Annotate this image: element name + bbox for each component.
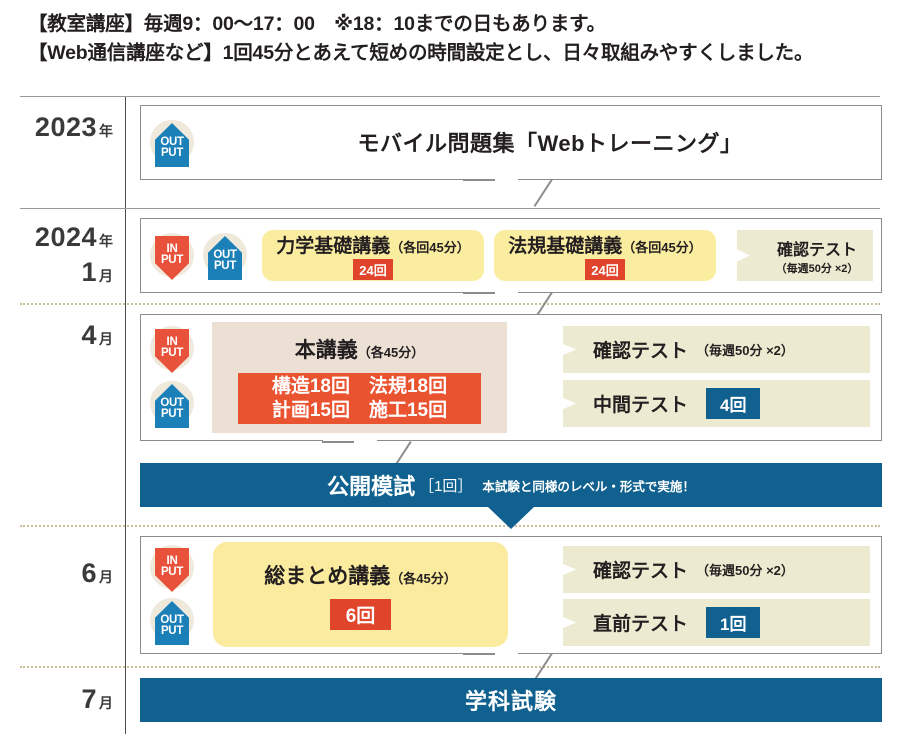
year-unit: 年 [99, 233, 113, 249]
exam-banner: 学科試験 [140, 678, 882, 722]
row-label-jun: 6月 [0, 558, 125, 589]
badge-line-2: PUT [214, 261, 236, 273]
year-unit: 年 [99, 123, 113, 139]
lecture-title: 法規基礎講義 [508, 236, 622, 257]
header-notes: 【教室講座】毎週9：00〜17：00 ※18：10までの日もあります。 【Web… [28, 10, 888, 68]
year-value: 2024 [35, 222, 97, 252]
lecture-summary: 総まとめ講義（各45分） 6回 [213, 542, 508, 647]
badge-line-2: PUT [161, 255, 183, 267]
lecture-note: （各回45分） [390, 240, 469, 255]
test-count-badge: 1回 [706, 607, 760, 638]
row-label-apr: 4月 [0, 320, 125, 351]
test-title: 中間テスト [593, 390, 688, 417]
lecture-count-badge: 24回 [585, 259, 624, 280]
month-unit: 月 [99, 331, 113, 347]
breakdown-line-2: 計画15回 施工15回 [272, 399, 447, 423]
row-label-jul: 7月 [0, 684, 125, 715]
badge-output-2023: OUT PUT [150, 120, 194, 164]
test-title: 直前テスト [593, 609, 688, 636]
lecture-title: 本講義 [295, 339, 358, 362]
lecture-title: 力学基礎講義 [276, 236, 390, 257]
test-count-badge: 4回 [706, 388, 760, 419]
mock-exam-note: 本試験と同様のレベル・形式で実施！ [482, 476, 695, 495]
header-line-1: 【教室講座】毎週9：00〜17：00 ※18：10までの日もあります。 [28, 10, 888, 39]
month-value: 6 [81, 558, 97, 588]
test-confirm-jan: 確認テスト （毎週50分 ×2） [737, 230, 873, 281]
test-title: 確認テスト [777, 236, 857, 260]
badge-output-jan: OUT PUT [203, 233, 247, 277]
separator-top [20, 96, 880, 97]
course-timeline-infographic: 【教室講座】毎週9：00〜17：00 ※18：10までの日もあります。 【Web… [0, 0, 900, 743]
badge-input-jan: IN PUT [150, 233, 194, 277]
test-confirm-jun: 確認テスト （毎週50分 ×2） [563, 546, 870, 593]
header-line-2: 【Web通信講座など】1回45分とあえて短めの時間設定とし、日々取組みやすくしま… [28, 39, 888, 68]
lecture-count-badge: 6回 [330, 599, 392, 630]
separator-apr-jun [20, 525, 880, 527]
separator-2023-2024 [20, 208, 880, 209]
test-final-prep-jun: 直前テスト 1回 [563, 599, 870, 646]
flow-notch-2023 [463, 179, 519, 207]
test-confirm-apr: 確認テスト （毎週50分 ×2） [563, 326, 870, 373]
row-label-2024-jan: 2024年 1月 [0, 222, 125, 288]
month-unit: 月 [99, 569, 113, 585]
flow-arrow-mock-exam [488, 507, 534, 529]
test-note: （毎週50分 ×2） [776, 260, 859, 276]
lecture-title: 総まとめ講義 [264, 565, 390, 588]
mock-exam-banner: 公開模試 ［1回］ 本試験と同様のレベル・形式で実施！ [140, 463, 882, 507]
badge-line-2: PUT [161, 348, 183, 360]
test-midterm-apr: 中間テスト 4回 [563, 380, 870, 427]
test-title: 確認テスト [593, 336, 688, 363]
lecture-law-basics: 法規基礎講義（各回45分） 24回 [494, 230, 716, 281]
month-unit: 月 [99, 268, 113, 284]
badge-line-2: PUT [161, 567, 183, 579]
separator-jun-jul [20, 666, 880, 668]
month-value: 1 [81, 257, 97, 287]
timeline-axis [125, 96, 126, 734]
badge-output-jun: OUT PUT [150, 598, 194, 642]
separator-jan-apr [20, 303, 880, 305]
badge-output-apr: OUT PUT [150, 381, 194, 425]
test-title: 確認テスト [593, 556, 688, 583]
exam-title: 学科試験 [465, 684, 557, 716]
mock-exam-count: ［1回］ [419, 475, 472, 496]
badge-line-2: PUT [161, 409, 183, 421]
item-mobile-training: モバイル問題集「Webトレーニング」 [230, 120, 870, 164]
row-label-2023: 2023年 [0, 112, 125, 143]
test-note: （毎週50分 ×2） [696, 560, 794, 579]
lecture-note: （各45分） [390, 571, 456, 586]
lecture-note: （各回45分） [622, 240, 701, 255]
badge-input-apr: IN PUT [150, 326, 194, 370]
lecture-main: 本講義（各45分） 構造18回 法規18回 計画15回 施工15回 [212, 322, 507, 433]
badge-input-jun: IN PUT [150, 545, 194, 589]
year-value: 2023 [35, 112, 97, 142]
month-unit: 月 [99, 695, 113, 711]
lecture-mechanics-basics: 力学基礎講義（各回45分） 24回 [262, 230, 484, 281]
lecture-count-badge: 24回 [353, 259, 392, 280]
item-title: モバイル問題集「Webトレーニング」 [357, 126, 742, 158]
badge-line-2: PUT [161, 626, 183, 638]
badge-line-2: PUT [161, 148, 183, 160]
mock-exam-title: 公開模試 [327, 469, 415, 501]
lecture-note: （各45分） [358, 345, 424, 360]
lecture-subject-breakdown: 構造18回 法規18回 計画15回 施工15回 [238, 373, 481, 424]
test-note: （毎週50分 ×2） [696, 340, 794, 359]
breakdown-line-1: 構造18回 法規18回 [272, 375, 447, 399]
month-value: 7 [81, 684, 97, 714]
month-value: 4 [81, 320, 97, 350]
